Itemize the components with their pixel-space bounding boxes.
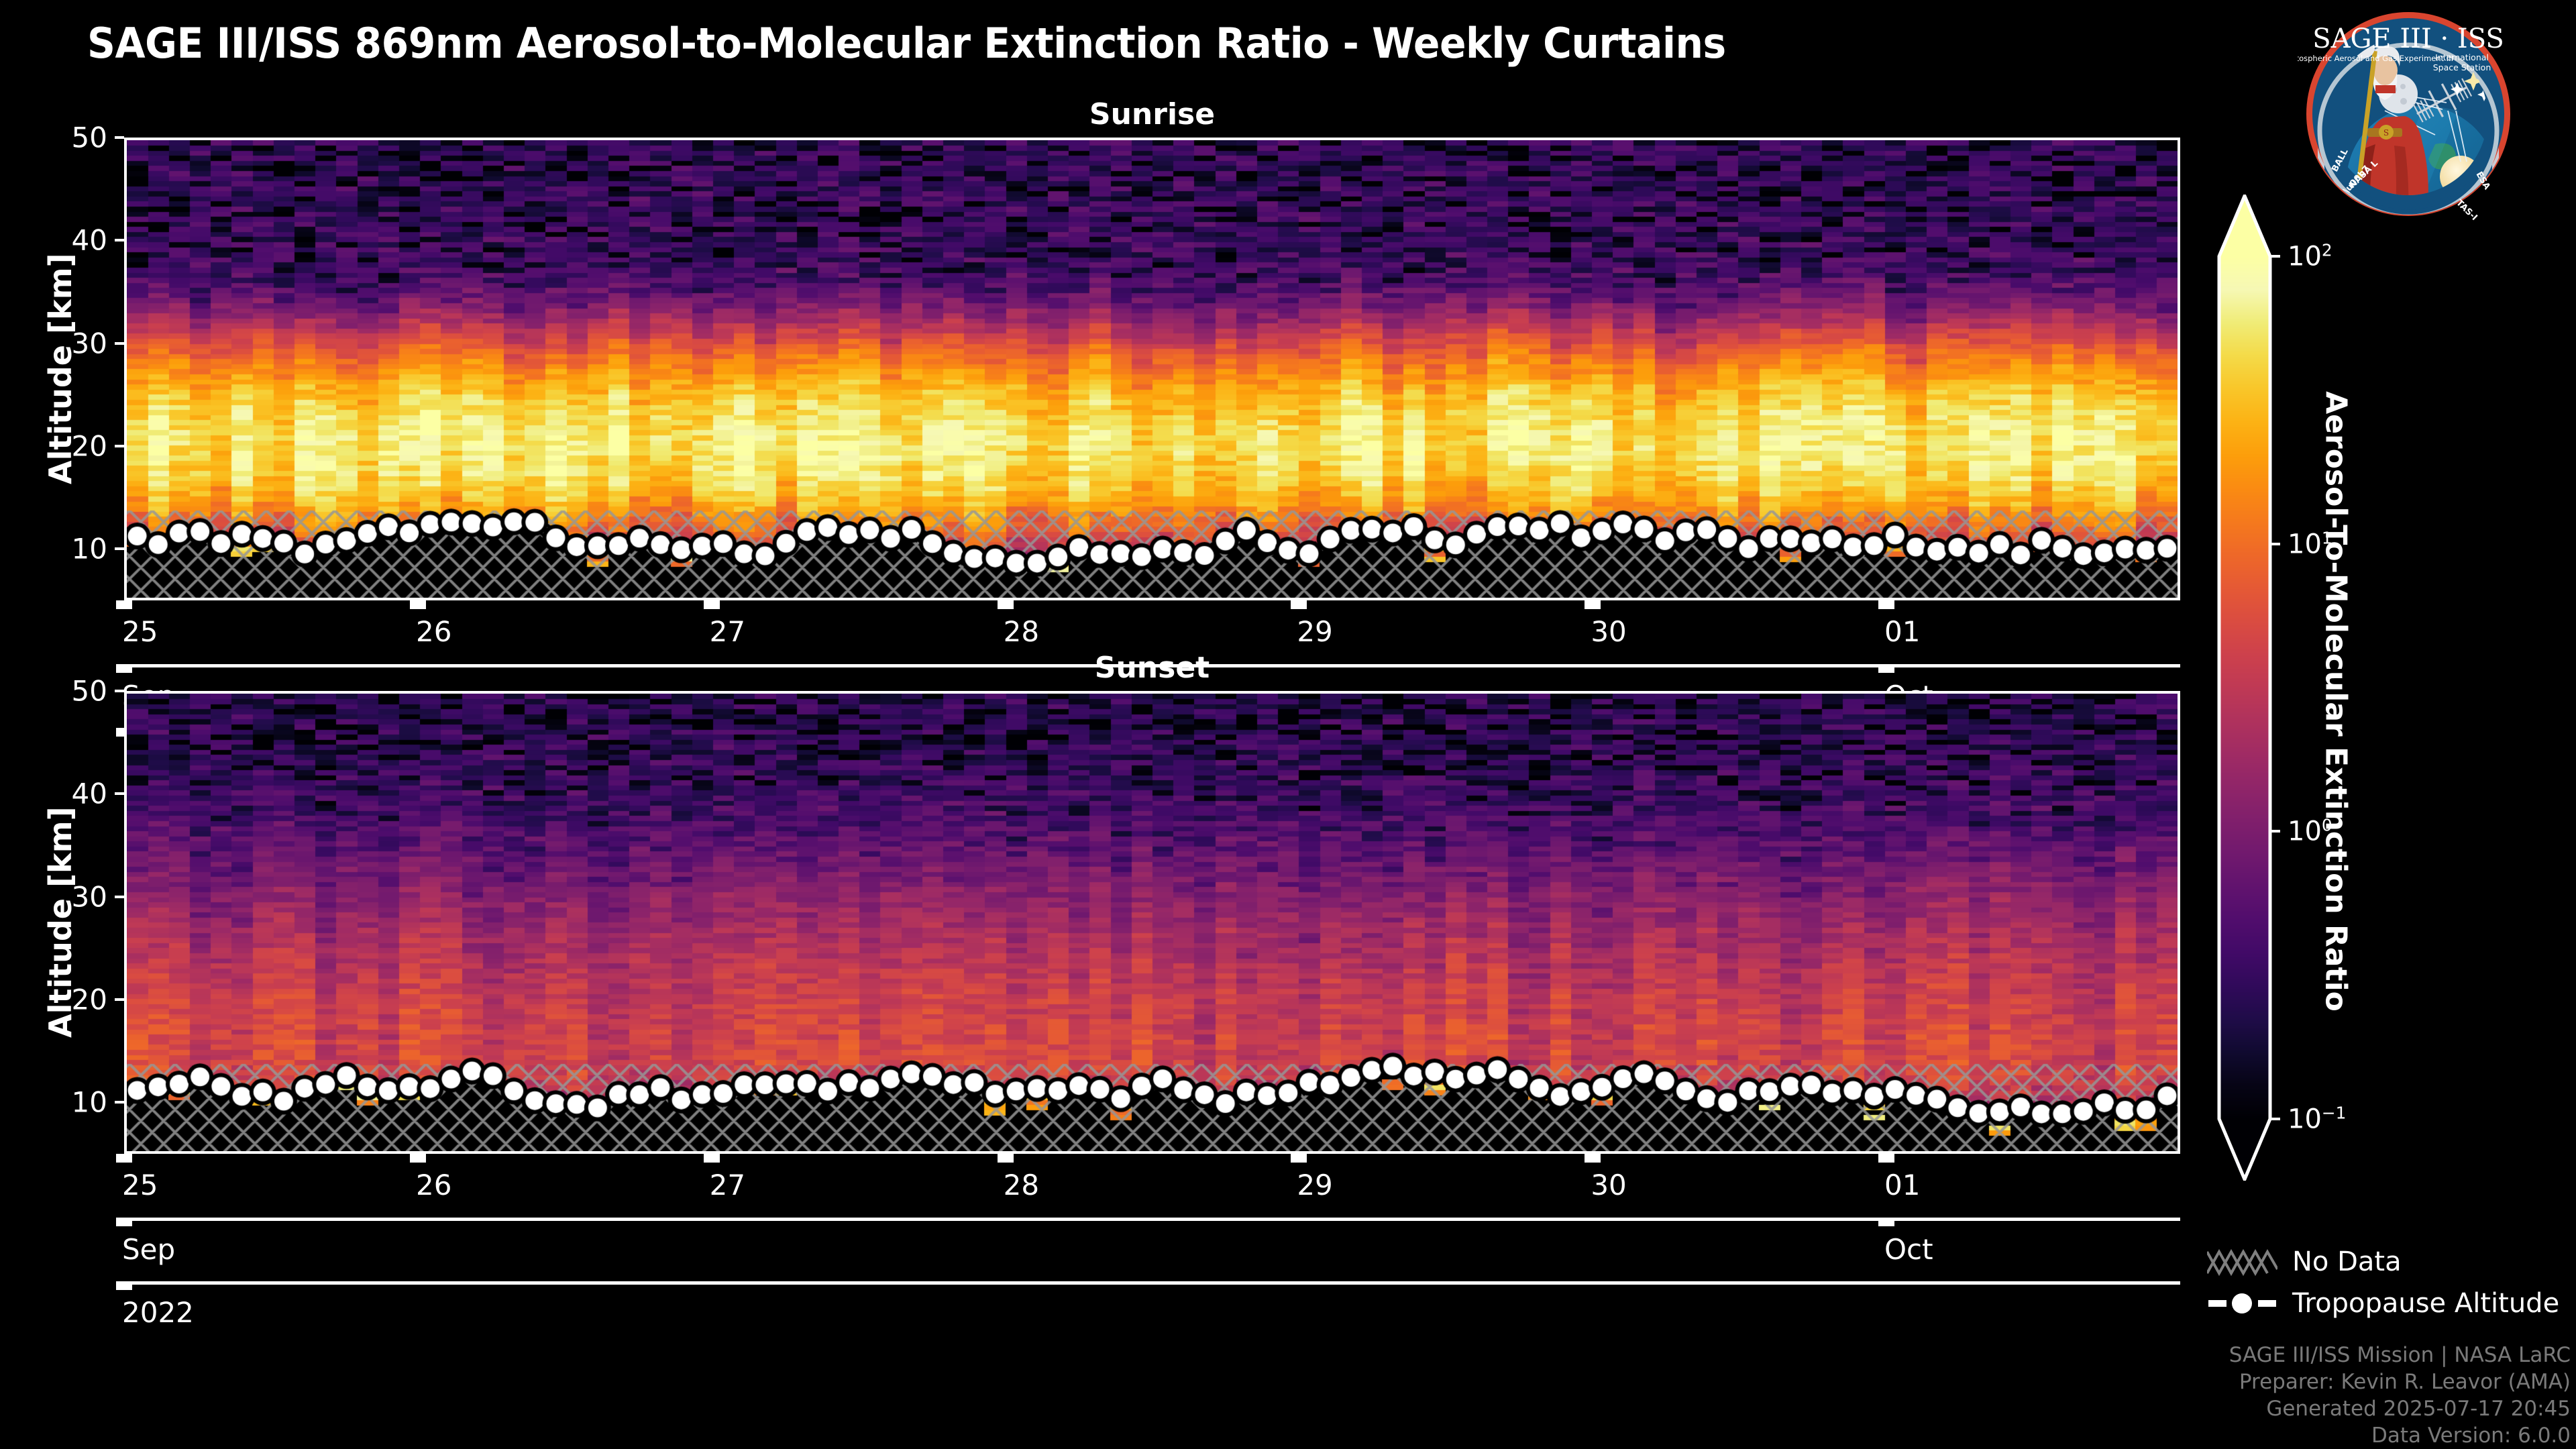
y-tick-label: 40 <box>0 224 107 257</box>
panel-sunrise-title: Sunrise <box>124 97 2180 131</box>
colorbar-tick-mantissa: 10 <box>2288 241 2322 272</box>
x-tick-label-day: 28 <box>1004 1169 1039 1201</box>
x-tick-mark <box>410 600 426 609</box>
x-tick-label-day: 27 <box>710 615 745 648</box>
patch-subtitle-left: Stratospheric Aerosol and Gas Experiment… <box>2298 54 2453 63</box>
y-tick-mark <box>115 342 124 345</box>
x-axis-rule-month <box>124 1218 2180 1221</box>
x-tick-mark <box>116 1154 132 1163</box>
x-tick-label-month: Sep <box>122 1233 175 1266</box>
sunrise-heatmap-canvas <box>127 140 2178 598</box>
x-tick-mark <box>998 600 1014 609</box>
x-tick-mark-month <box>116 1218 132 1226</box>
x-tick-mark <box>1291 600 1307 609</box>
x-tick-mark <box>410 1154 426 1163</box>
footer-line-preparer: Preparer: Kevin R. Leavor (AMA) <box>2229 1368 2571 1395</box>
x-tick-label-day: 25 <box>122 1169 158 1201</box>
y-tick-mark <box>115 792 124 795</box>
x-tick-mark <box>998 1154 1014 1163</box>
panel-sunset-title: Sunset <box>124 651 2180 685</box>
colorbar-outline <box>2214 195 2294 1181</box>
legend-item-no-data: No Data <box>2207 1241 2559 1283</box>
patch-subtitle-right-2: Space Station <box>2433 62 2491 72</box>
colorbar-tick-mark <box>2271 543 2280 545</box>
y-tick-label: 50 <box>0 675 107 708</box>
panel-sunrise: Sunrise <box>124 138 2180 600</box>
x-tick-mark <box>1878 1154 1894 1163</box>
y-tick-label: 50 <box>0 121 107 154</box>
y-tick-mark <box>115 445 124 447</box>
footer-line-mission: SAGE III/ISS Mission | NASA LaRC <box>2229 1342 2571 1368</box>
colorbar-tick-label: 102 <box>2288 240 2332 272</box>
sunrise-plot-area[interactable] <box>124 138 2180 600</box>
x-axis-rule-year <box>124 1281 2180 1285</box>
tropopause-marker-icon <box>2207 1288 2277 1319</box>
footer-line-version: Data Version: 6.0.0 <box>2229 1422 2571 1449</box>
y-tick-mark <box>115 998 124 1001</box>
legend-item-tropopause: Tropopause Altitude <box>2207 1283 2559 1324</box>
legend: No Data Tropopause Altitude <box>2207 1241 2559 1324</box>
x-tick-label-day: 30 <box>1591 1169 1626 1201</box>
x-tick-label-day: 01 <box>1884 615 1920 648</box>
x-tick-label-year: 2022 <box>122 1296 194 1329</box>
y-tick-mark <box>115 547 124 550</box>
footer-credits: SAGE III/ISS Mission | NASA LaRC Prepare… <box>2229 1342 2571 1449</box>
mission-patch-icon: S BALL \u00b7 NASA L TAS-I ESA SAGE III … <box>2298 3 2519 225</box>
sunset-heatmap-canvas <box>127 694 2178 1151</box>
x-tick-mark <box>1585 600 1601 609</box>
y-tick-mark <box>115 239 124 241</box>
figure-root: SAGE III/ISS 869nm Aerosol-to-Molecular … <box>0 0 2576 1449</box>
x-tick-label-day: 28 <box>1004 615 1039 648</box>
patch-title: SAGE III · ISS <box>2312 23 2504 54</box>
x-tick-mark-month <box>1878 1218 1894 1226</box>
legend-label-no-data: No Data <box>2292 1246 2402 1277</box>
panel-sunset: Sunset <box>124 691 2180 1154</box>
y-tick-label: 20 <box>0 430 107 463</box>
colorbar-tick-mark <box>2271 1118 2280 1120</box>
svg-text:S: S <box>2383 128 2389 138</box>
x-tick-mark <box>704 1154 720 1163</box>
svg-text:TAS-I: TAS-I <box>2454 198 2479 223</box>
x-tick-mark <box>1878 600 1894 609</box>
x-tick-label-day: 29 <box>1297 615 1332 648</box>
y-tick-mark <box>115 896 124 898</box>
no-data-hatch-icon <box>2207 1246 2277 1277</box>
colorbar-axis-label: Aerosol-To-Molecular Extinction Ratio <box>2319 292 2353 1111</box>
colorbar-tick-mantissa: 10 <box>2288 816 2322 847</box>
x-tick-label-day: 01 <box>1884 1169 1920 1201</box>
legend-label-tropopause: Tropopause Altitude <box>2292 1288 2559 1319</box>
colorbar-tick-mark <box>2271 255 2280 258</box>
x-tick-mark <box>704 600 720 609</box>
sage-iii-iss-mission-patch-logo: S BALL \u00b7 NASA L TAS-I ESA SAGE III … <box>2298 3 2519 225</box>
colorbar-tick-mantissa: 10 <box>2288 529 2322 559</box>
y-tick-label: 30 <box>0 880 107 913</box>
x-tick-label-day: 26 <box>416 1169 451 1201</box>
x-tick-mark <box>1291 1154 1307 1163</box>
x-tick-mark <box>1585 1154 1601 1163</box>
y-tick-label: 20 <box>0 983 107 1016</box>
x-tick-label-day: 30 <box>1591 615 1626 648</box>
x-tick-label-month: Oct <box>1884 1233 1933 1266</box>
y-tick-label: 10 <box>0 1086 107 1119</box>
colorbar-tick-exponent: 2 <box>2322 240 2332 260</box>
x-tick-label-day: 25 <box>122 615 158 648</box>
x-tick-label-day: 27 <box>710 1169 745 1201</box>
y-tick-mark <box>115 136 124 139</box>
footer-line-generated: Generated 2025-07-17 20:45 <box>2229 1395 2571 1422</box>
colorbar-tick-mark <box>2271 830 2280 833</box>
x-tick-mark-year <box>116 1281 132 1290</box>
page-title: SAGE III/ISS 869nm Aerosol-to-Molecular … <box>87 19 1726 68</box>
y-tick-label: 10 <box>0 533 107 566</box>
y-tick-mark <box>115 1101 124 1104</box>
x-tick-label-day: 26 <box>416 615 451 648</box>
patch-subtitle-right-1: International <box>2435 52 2489 62</box>
x-tick-mark <box>116 600 132 609</box>
x-tick-label-day: 29 <box>1297 1169 1332 1201</box>
y-tick-mark <box>115 690 124 692</box>
y-tick-label: 40 <box>0 777 107 810</box>
y-tick-label: 30 <box>0 327 107 360</box>
colorbar-tick-mantissa: 10 <box>2288 1104 2322 1135</box>
sunset-plot-area[interactable] <box>124 691 2180 1154</box>
